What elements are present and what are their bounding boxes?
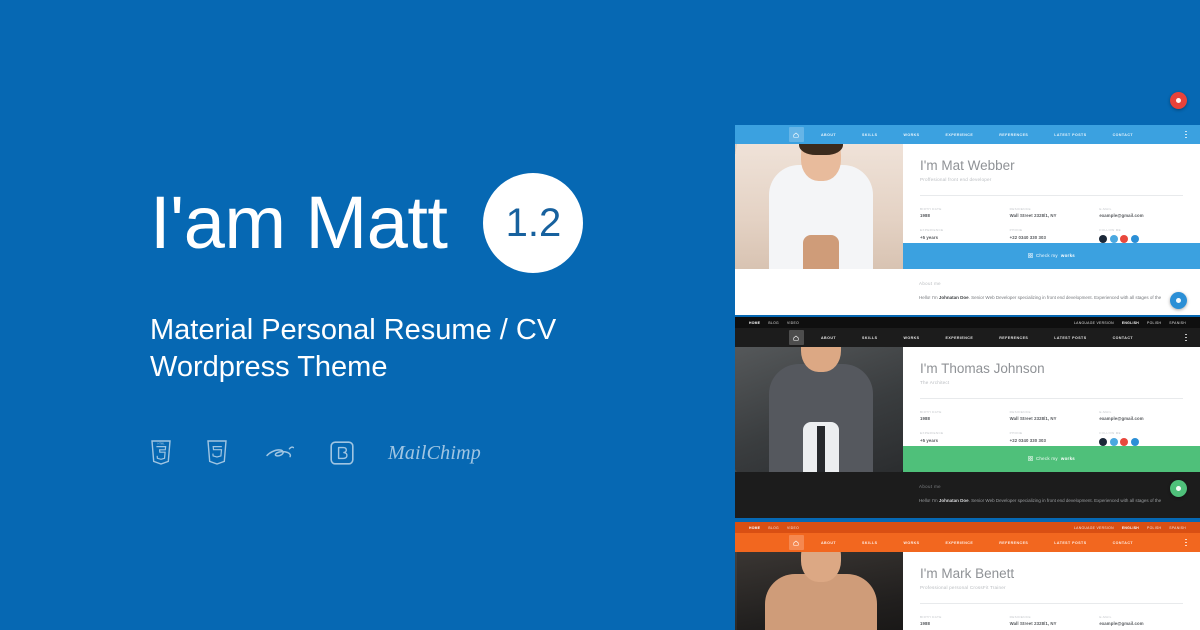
info-card-blue: I'm Mat Webber Proffesional front end de… (903, 144, 1200, 269)
fab-green[interactable] (1170, 480, 1187, 497)
hero-photo-green (735, 347, 903, 472)
divider (920, 398, 1183, 399)
topbar-dark[interactable]: HOME BLOG VIDEO LANGUAGE VERSION ENGLISH… (735, 317, 1200, 328)
about-name: Johnatan Doe (939, 295, 969, 300)
field-birth-date: BIRTH DATE 1988 (920, 207, 1004, 219)
nav-item-works[interactable]: WORKS (891, 133, 933, 137)
hero-blue: I'm Mat Webber Proffesional front end de… (735, 144, 1200, 269)
google-plus-icon[interactable] (1120, 438, 1128, 446)
person-name-blue: I'm Mat Webber (920, 159, 1183, 174)
field-follow-me: FOLLOW ME (1099, 228, 1183, 243)
field-email: E-MAIL example@gmail.com (1099, 207, 1183, 219)
topbar-language-spanish[interactable]: SPANISH (1169, 526, 1186, 530)
about-lead: Hello! I'm (919, 295, 939, 300)
check-works-button-green[interactable]: Check my works (903, 446, 1200, 472)
hero-green: I'm Thomas Johnson The Architect BIRTH D… (735, 347, 1200, 472)
detail-fields-orange: BIRTH DATE 1988 RESIDENCE Wall Street 23… (920, 615, 1183, 630)
nav-item-contact[interactable]: CONTACT (1100, 541, 1146, 545)
linkedin-icon[interactable] (1131, 235, 1139, 243)
nav-item-about[interactable]: ABOUT (808, 133, 849, 137)
about-block-green: About me Hello! I'm Johnatan Doe. Senior… (735, 472, 1200, 518)
topbar-blog[interactable]: BLOG (768, 526, 779, 530)
topbar-language-polish[interactable]: POLISH (1147, 526, 1161, 530)
promo-panel: I'am Matt 1.2 Material Personal Resume /… (0, 0, 735, 630)
topbar-blog[interactable]: BLOG (768, 321, 779, 325)
subtitle-line-1: Material Personal Resume / CV (150, 314, 556, 346)
check-works-strong: works (1061, 253, 1075, 258)
topbar-language-english[interactable]: ENGLISH (1122, 321, 1139, 325)
about-text: Hello! I'm Johnatan Doe. Senior Web Deve… (919, 294, 1183, 302)
facebook-icon[interactable] (1099, 438, 1107, 446)
field-residence: RESIDENCE Wall Street 2328/1, NY (1010, 410, 1094, 422)
nav-item-skills[interactable]: SKILLS (849, 541, 890, 545)
grid-icon (1028, 253, 1033, 258)
about-body: . Senior Web Developer specializing in f… (969, 498, 1162, 503)
about-heading: About me (919, 484, 1183, 489)
about-name: Johnatan Doe (939, 498, 969, 503)
field-email: E-MAIL example@gmail.com (1099, 410, 1183, 422)
subtitle-line-2: Wordpress Theme (150, 349, 620, 386)
mockup-green: HOME BLOG VIDEO LANGUAGE VERSION ENGLISH… (735, 317, 1200, 522)
sass-icon (262, 438, 296, 468)
detail-fields-blue: BIRTH DATE 1988 RESIDENCE Wall Street 23… (920, 207, 1183, 243)
topbar-home[interactable]: HOME (749, 321, 760, 325)
facebook-icon[interactable] (1099, 235, 1107, 243)
portrait-mark-benett (761, 552, 881, 630)
page-title: I'am Matt (150, 186, 447, 260)
home-icon[interactable] (789, 330, 804, 345)
mockup-strip: BIRTH DATE 1988 RESIDENCE Wall Street 23… (735, 0, 1200, 630)
topbar-orange[interactable]: HOME BLOG VIDEO LANGUAGE VERSION ENGLISH… (735, 522, 1200, 533)
field-birth-date: BIRTH DATE 1988 (920, 615, 1004, 627)
about-block-blue: About me Hello! I'm Johnatan Doe. Senior… (735, 269, 1200, 315)
info-card-green: I'm Thomas Johnson The Architect BIRTH D… (903, 347, 1200, 472)
about-heading: About me (919, 281, 1183, 286)
about-text: Hello! I'm Johnatan Doe. Senior Web Deve… (919, 497, 1183, 505)
field-birth-date: BIRTH DATE 1988 (920, 410, 1004, 422)
check-works-button-blue[interactable]: Check my works (903, 243, 1200, 269)
nav-item-contact[interactable]: CONTACT (1100, 133, 1146, 137)
about-body: . Senior Web Developer specializing in f… (969, 295, 1162, 300)
person-name-orange: I'm Mark Benett (920, 567, 1183, 582)
nav-item-about[interactable]: ABOUT (808, 541, 849, 545)
fab-red[interactable] (1170, 92, 1187, 109)
field-residence: RESIDENCE Wall Street 2328/1, NY (1010, 207, 1094, 219)
css3-icon (206, 438, 228, 468)
google-plus-icon[interactable] (1120, 235, 1128, 243)
mockup-red: BIRTH DATE 1988 RESIDENCE Wall Street 23… (735, 0, 1200, 125)
twitter-icon[interactable] (1110, 438, 1118, 446)
tech-badge-row: HTML MailChi (150, 438, 710, 468)
more-vertical-icon[interactable] (1185, 131, 1187, 139)
field-follow-me: FOLLOW ME (1099, 431, 1183, 446)
check-works-label: Check my (1036, 456, 1058, 461)
topbar-video[interactable]: VIDEO (787, 321, 799, 325)
hero-photo-orange (735, 552, 903, 630)
nav-item-skills[interactable]: SKILLS (849, 133, 890, 137)
topbar-language-english[interactable]: ENGLISH (1122, 526, 1139, 530)
topbar-language-label: LANGUAGE VERSION (1074, 526, 1114, 530)
navbar-blue[interactable]: ABOUT SKILLS WORKS EXPERIENCE REFERENCES… (735, 125, 1200, 144)
html5-icon: HTML (150, 438, 172, 468)
nav-item-about[interactable]: ABOUT (808, 336, 849, 340)
bootstrap-icon (330, 438, 354, 468)
person-role-blue: Proffesional front end developer (920, 177, 1183, 182)
hero-orange: I'm Mark Benett Professional personal Cr… (735, 552, 1200, 630)
topbar-language-spanish[interactable]: SPANISH (1169, 321, 1186, 325)
topbar-video[interactable]: VIDEO (787, 526, 799, 530)
mockup-orange: HOME BLOG VIDEO LANGUAGE VERSION ENGLISH… (735, 522, 1200, 630)
detail-fields-green: BIRTH DATE 1988 RESIDENCE Wall Street 23… (920, 410, 1183, 446)
nav-item-skills[interactable]: SKILLS (849, 336, 890, 340)
version-badge: 1.2 (483, 173, 583, 273)
promo-content: I'am Matt 1.2 Material Personal Resume /… (150, 168, 710, 468)
nav-item-experience[interactable]: EXPERIENCE (933, 541, 987, 545)
field-phone: PHONE +22 0340 330 303 (1010, 431, 1094, 446)
topbar-home[interactable]: HOME (749, 526, 760, 530)
nav-item-experience[interactable]: EXPERIENCE (933, 336, 987, 340)
mockup-blue: ABOUT SKILLS WORKS EXPERIENCE REFERENCES… (735, 125, 1200, 317)
social-links-blue[interactable] (1099, 235, 1183, 243)
field-experience: EXPERIENCE +5 years (920, 431, 1004, 446)
hero-photo-blue (735, 144, 903, 269)
nav-item-latest-posts[interactable]: LATEST POSTS (1041, 133, 1099, 137)
more-vertical-icon[interactable] (1185, 539, 1187, 547)
nav-item-references[interactable]: REFERENCES (986, 336, 1041, 340)
version-number: 1.2 (506, 203, 562, 243)
social-links-green[interactable] (1099, 438, 1183, 446)
mailchimp-icon: MailChimp (388, 442, 481, 465)
navbar-orange[interactable]: ABOUT SKILLS WORKS EXPERIENCE REFERENCES… (735, 533, 1200, 552)
more-vertical-icon[interactable] (1185, 334, 1187, 342)
nav-item-experience[interactable]: EXPERIENCE (933, 133, 987, 137)
topbar-language-polish[interactable]: POLISH (1147, 321, 1161, 325)
nav-item-contact[interactable]: CONTACT (1100, 336, 1146, 340)
promo-subtitle: Material Personal Resume / CV Wordpress … (150, 312, 620, 386)
portrait-thomas-johnson (761, 347, 881, 472)
info-card-orange: I'm Mark Benett Professional personal Cr… (903, 552, 1200, 630)
navbar-dark[interactable]: ABOUT SKILLS WORKS EXPERIENCE REFERENCES… (735, 328, 1200, 347)
field-email: E-MAIL example@gmail.com (1099, 615, 1183, 627)
nav-item-works[interactable]: WORKS (891, 336, 933, 340)
svg-text:HTML: HTML (157, 442, 165, 446)
title-row: I'am Matt 1.2 (150, 168, 710, 278)
check-works-label: Check my (1036, 253, 1058, 258)
nav-item-latest-posts[interactable]: LATEST POSTS (1041, 541, 1099, 545)
about-lead: Hello! I'm (919, 498, 939, 503)
grid-icon (1028, 456, 1033, 461)
person-role-green: The Architect (920, 380, 1183, 385)
field-residence: RESIDENCE Wall Street 2328/1, NY (1010, 615, 1094, 627)
check-works-strong: works (1061, 456, 1075, 461)
home-icon[interactable] (789, 535, 804, 550)
person-name-green: I'm Thomas Johnson (920, 362, 1183, 377)
twitter-icon[interactable] (1110, 235, 1118, 243)
linkedin-icon[interactable] (1131, 438, 1139, 446)
nav-item-references[interactable]: REFERENCES (986, 541, 1041, 545)
topbar-language-label: LANGUAGE VERSION (1074, 321, 1114, 325)
divider (920, 195, 1183, 196)
nav-item-works[interactable]: WORKS (891, 541, 933, 545)
divider (920, 603, 1183, 604)
nav-item-references[interactable]: REFERENCES (986, 133, 1041, 137)
fab-blue[interactable] (1170, 292, 1187, 309)
home-icon[interactable] (789, 127, 804, 142)
person-role-orange: Professional personal CrossFit Trainer (920, 585, 1183, 590)
portrait-mat-webber (761, 144, 881, 269)
field-experience: EXPERIENCE +5 years (920, 228, 1004, 243)
field-phone: PHONE +22 0340 330 303 (1010, 228, 1094, 243)
nav-item-latest-posts[interactable]: LATEST POSTS (1041, 336, 1099, 340)
